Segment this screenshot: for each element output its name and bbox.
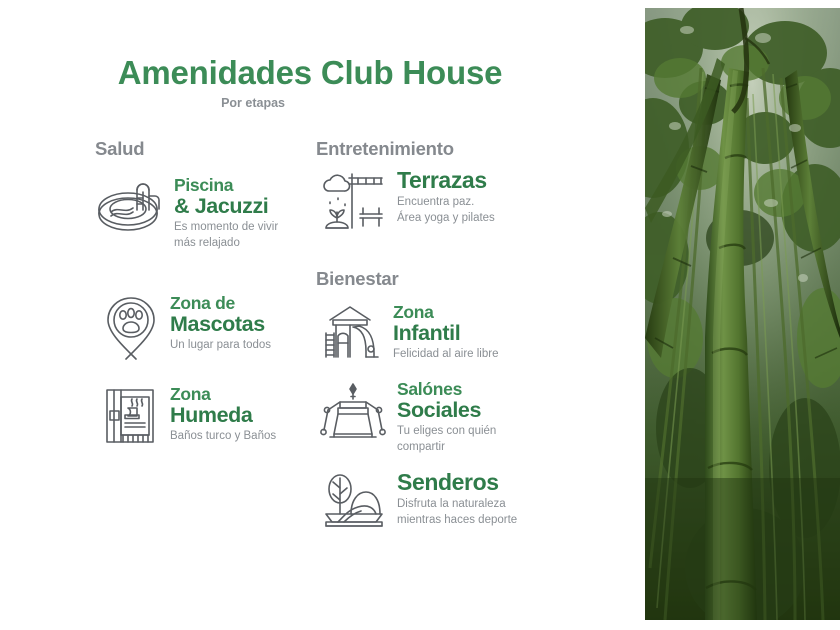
- amenity-title-line1: Senderos: [397, 470, 517, 495]
- amenity-item-terrazas[interactable]: Terrazas Encuentra paz. Área yoga y pila…: [316, 168, 495, 236]
- bamboo-forest-photo: [645, 8, 840, 620]
- amenity-title-line2: Mascotas: [170, 313, 271, 336]
- amenity-desc-line2: mientras haces deporte: [397, 513, 517, 528]
- amenity-item-senderos[interactable]: Senderos Disfruta la naturaleza mientras…: [318, 470, 517, 530]
- gazebo-tent-icon: [318, 380, 388, 442]
- amenity-title-line1: Zona: [393, 303, 498, 322]
- amenity-item-salones[interactable]: Salónes Sociales Tu eliges con quién com…: [318, 380, 496, 455]
- amenity-title-line2: Humeda: [170, 404, 276, 427]
- amenity-title-line2: Sociales: [397, 399, 496, 422]
- amenity-desc-line1: Encuentra paz.: [397, 195, 495, 210]
- amenity-item-humeda[interactable]: Zona Humeda Baños turco y Baños: [101, 385, 276, 447]
- amenity-text-mascotas: Zona de Mascotas Un lugar para todos: [161, 294, 271, 352]
- amenity-desc-line2: compartir: [397, 440, 496, 455]
- amenity-text-senderos: Senderos Disfruta la naturaleza mientras…: [388, 470, 517, 528]
- page-subtitle: Por etapas: [0, 96, 285, 110]
- amenity-item-mascotas[interactable]: Zona de Mascotas Un lugar para todos: [101, 294, 271, 362]
- amenity-desc-line1: Baños turco y Baños: [170, 429, 276, 444]
- amenity-title-line2: Infantil: [393, 322, 498, 345]
- page-title: Amenidades Club House: [0, 55, 620, 91]
- slide-root: Amenidades Club House Por etapas Salud E…: [0, 0, 840, 630]
- amenity-text-infantil: Zona Infantil Felicidad al aire libre: [384, 303, 498, 361]
- amenity-item-infantil[interactable]: Zona Infantil Felicidad al aire libre: [320, 303, 498, 363]
- pool-slide-icon: [95, 176, 165, 238]
- trees-path-icon: [318, 470, 388, 530]
- amenity-desc-line2: más relajado: [174, 236, 278, 251]
- amenity-item-piscina[interactable]: Piscina & Jacuzzi Es momento de vivir má…: [95, 176, 278, 251]
- paw-map-pin-icon: [101, 294, 161, 362]
- amenity-text-salones: Salónes Sociales Tu eliges con quién com…: [388, 380, 496, 455]
- amenity-desc-line1: Tu eliges con quién: [397, 424, 496, 439]
- section-heading-bienestar: Bienestar: [316, 268, 399, 290]
- sauna-steam-icon: [101, 385, 161, 447]
- amenity-text-piscina: Piscina & Jacuzzi Es momento de vivir má…: [165, 176, 278, 251]
- section-heading-salud: Salud: [95, 138, 144, 160]
- amenity-desc-line1: Es momento de vivir: [174, 220, 278, 235]
- amenity-text-terrazas: Terrazas Encuentra paz. Área yoga y pila…: [388, 168, 495, 226]
- amenity-desc-line1: Un lugar para todos: [170, 338, 271, 353]
- amenity-desc-line2: Área yoga y pilates: [397, 211, 495, 226]
- amenity-title-line1: Zona: [170, 385, 276, 404]
- amenity-title-line1: Zona de: [170, 294, 271, 313]
- amenity-title-line2: & Jacuzzi: [174, 195, 278, 218]
- content-panel: Amenidades Club House Por etapas Salud E…: [0, 0, 645, 630]
- amenity-title-line1: Piscina: [174, 176, 278, 195]
- amenity-title-line1: Terrazas: [397, 168, 495, 193]
- amenity-desc-line1: Disfruta la naturaleza: [397, 497, 517, 512]
- amenity-title-line1: Salónes: [397, 380, 496, 399]
- section-heading-entretenimiento: Entretenimiento: [316, 138, 454, 160]
- playground-slide-icon: [320, 303, 384, 363]
- amenity-desc-line1: Felicidad al aire libre: [393, 347, 498, 362]
- amenity-text-humeda: Zona Humeda Baños turco y Baños: [161, 385, 276, 443]
- pergola-cloud-icon: [316, 168, 388, 236]
